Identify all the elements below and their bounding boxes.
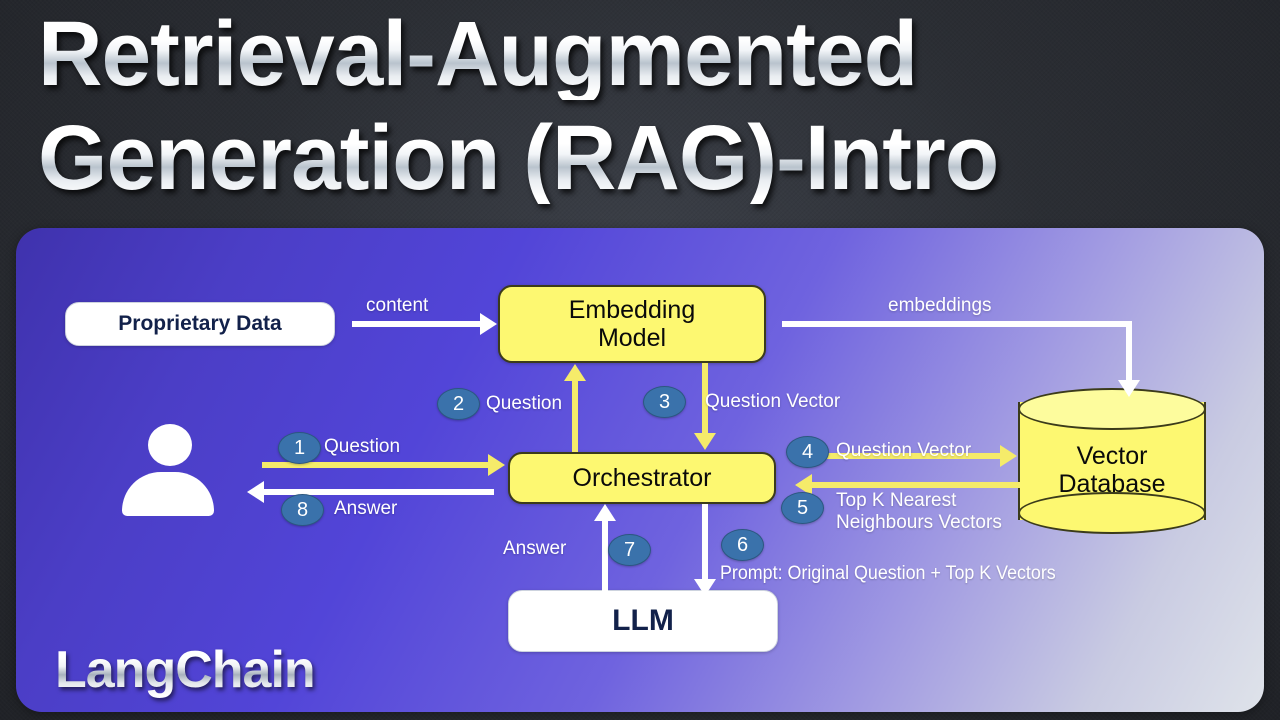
arrow-step-7-head: [594, 504, 616, 521]
label-prompt: Prompt: Original Question + Top K Vector…: [720, 563, 1056, 585]
langchain-wordmark: LangChain: [55, 640, 315, 700]
title-line-2: Generation (RAG)-Intro: [38, 112, 1212, 204]
label-answer-llm: Answer: [503, 538, 566, 560]
arrow-step-7-shaft: [602, 520, 608, 592]
arrow-embeddings-head: [1118, 380, 1140, 397]
arrow-embeddings-shaft-h: [782, 321, 1132, 327]
arrow-embeddings-shaft-v: [1126, 321, 1132, 383]
badge-step-4[interactable]: 4: [786, 436, 829, 468]
vdb-l1: Vector: [1077, 442, 1148, 470]
label-answer-user: Answer: [334, 498, 397, 520]
user-head-icon: [148, 424, 192, 466]
label-question-vector-db: Question Vector: [836, 440, 971, 462]
arrow-content-shaft: [352, 321, 482, 327]
vector-database-line-1: Vector Database: [1058, 442, 1165, 498]
label-content: content: [366, 295, 428, 317]
title-line-1: Retrieval-Augmented: [38, 8, 1212, 100]
arrow-step-8-head: [247, 481, 264, 503]
embedding-model-line-2: Model: [598, 324, 666, 352]
user-body-icon: [122, 472, 214, 516]
arrow-content-head: [480, 313, 497, 335]
embedding-model-line-1: Embedding: [569, 296, 695, 324]
node-vector-database-label: Vector Database: [1018, 424, 1206, 516]
badge-step-7[interactable]: 7: [608, 534, 651, 566]
slide-canvas: Retrieval-Augmented Generation (RAG)-Int…: [0, 0, 1280, 720]
label-question-vector-down: Question Vector: [705, 391, 840, 413]
node-vector-database[interactable]: Vector Database: [1018, 388, 1206, 534]
badge-step-1[interactable]: 1: [278, 432, 321, 464]
arrow-step-3-head: [694, 433, 716, 450]
arrow-step-4-head: [1000, 445, 1017, 467]
page-title: Retrieval-Augmented Generation (RAG)-Int…: [38, 8, 1212, 204]
node-proprietary-data-label: Proprietary Data: [118, 312, 281, 336]
label-topk-vectors: Top K Nearest Neighbours Vectors: [836, 490, 1026, 534]
node-proprietary-data[interactable]: Proprietary Data: [65, 302, 335, 346]
label-question-orchestrator: Question: [486, 393, 562, 415]
arrow-step-1-head: [488, 454, 505, 476]
badge-step-5[interactable]: 5: [781, 492, 824, 524]
node-orchestrator-label: Orchestrator: [573, 464, 712, 492]
node-embedding-model[interactable]: Embedding Model: [498, 285, 766, 363]
user-silhouette-icon: [122, 424, 214, 516]
badge-step-3[interactable]: 3: [643, 386, 686, 418]
arrow-step-5-shaft: [812, 482, 1020, 488]
label-topk-line-2: Neighbours Vectors: [836, 512, 1002, 533]
badge-step-6[interactable]: 6: [721, 529, 764, 561]
node-llm[interactable]: LLM: [508, 590, 778, 652]
badge-step-8[interactable]: 8: [281, 494, 324, 526]
vdb-l2: Database: [1058, 470, 1165, 498]
arrow-step-2-head: [564, 364, 586, 381]
node-embedding-model-label: Embedding Model: [569, 296, 695, 352]
node-orchestrator[interactable]: Orchestrator: [508, 452, 776, 504]
label-embeddings: embeddings: [888, 295, 992, 317]
arrow-step-6-shaft: [702, 504, 708, 582]
arrow-step-6-head: [694, 579, 716, 596]
node-llm-label: LLM: [612, 604, 674, 638]
badge-step-2[interactable]: 2: [437, 388, 480, 420]
label-topk-line-1: Top K Nearest: [836, 490, 956, 511]
arrow-step-2-shaft: [572, 380, 578, 452]
label-question-user: Question: [324, 436, 400, 458]
